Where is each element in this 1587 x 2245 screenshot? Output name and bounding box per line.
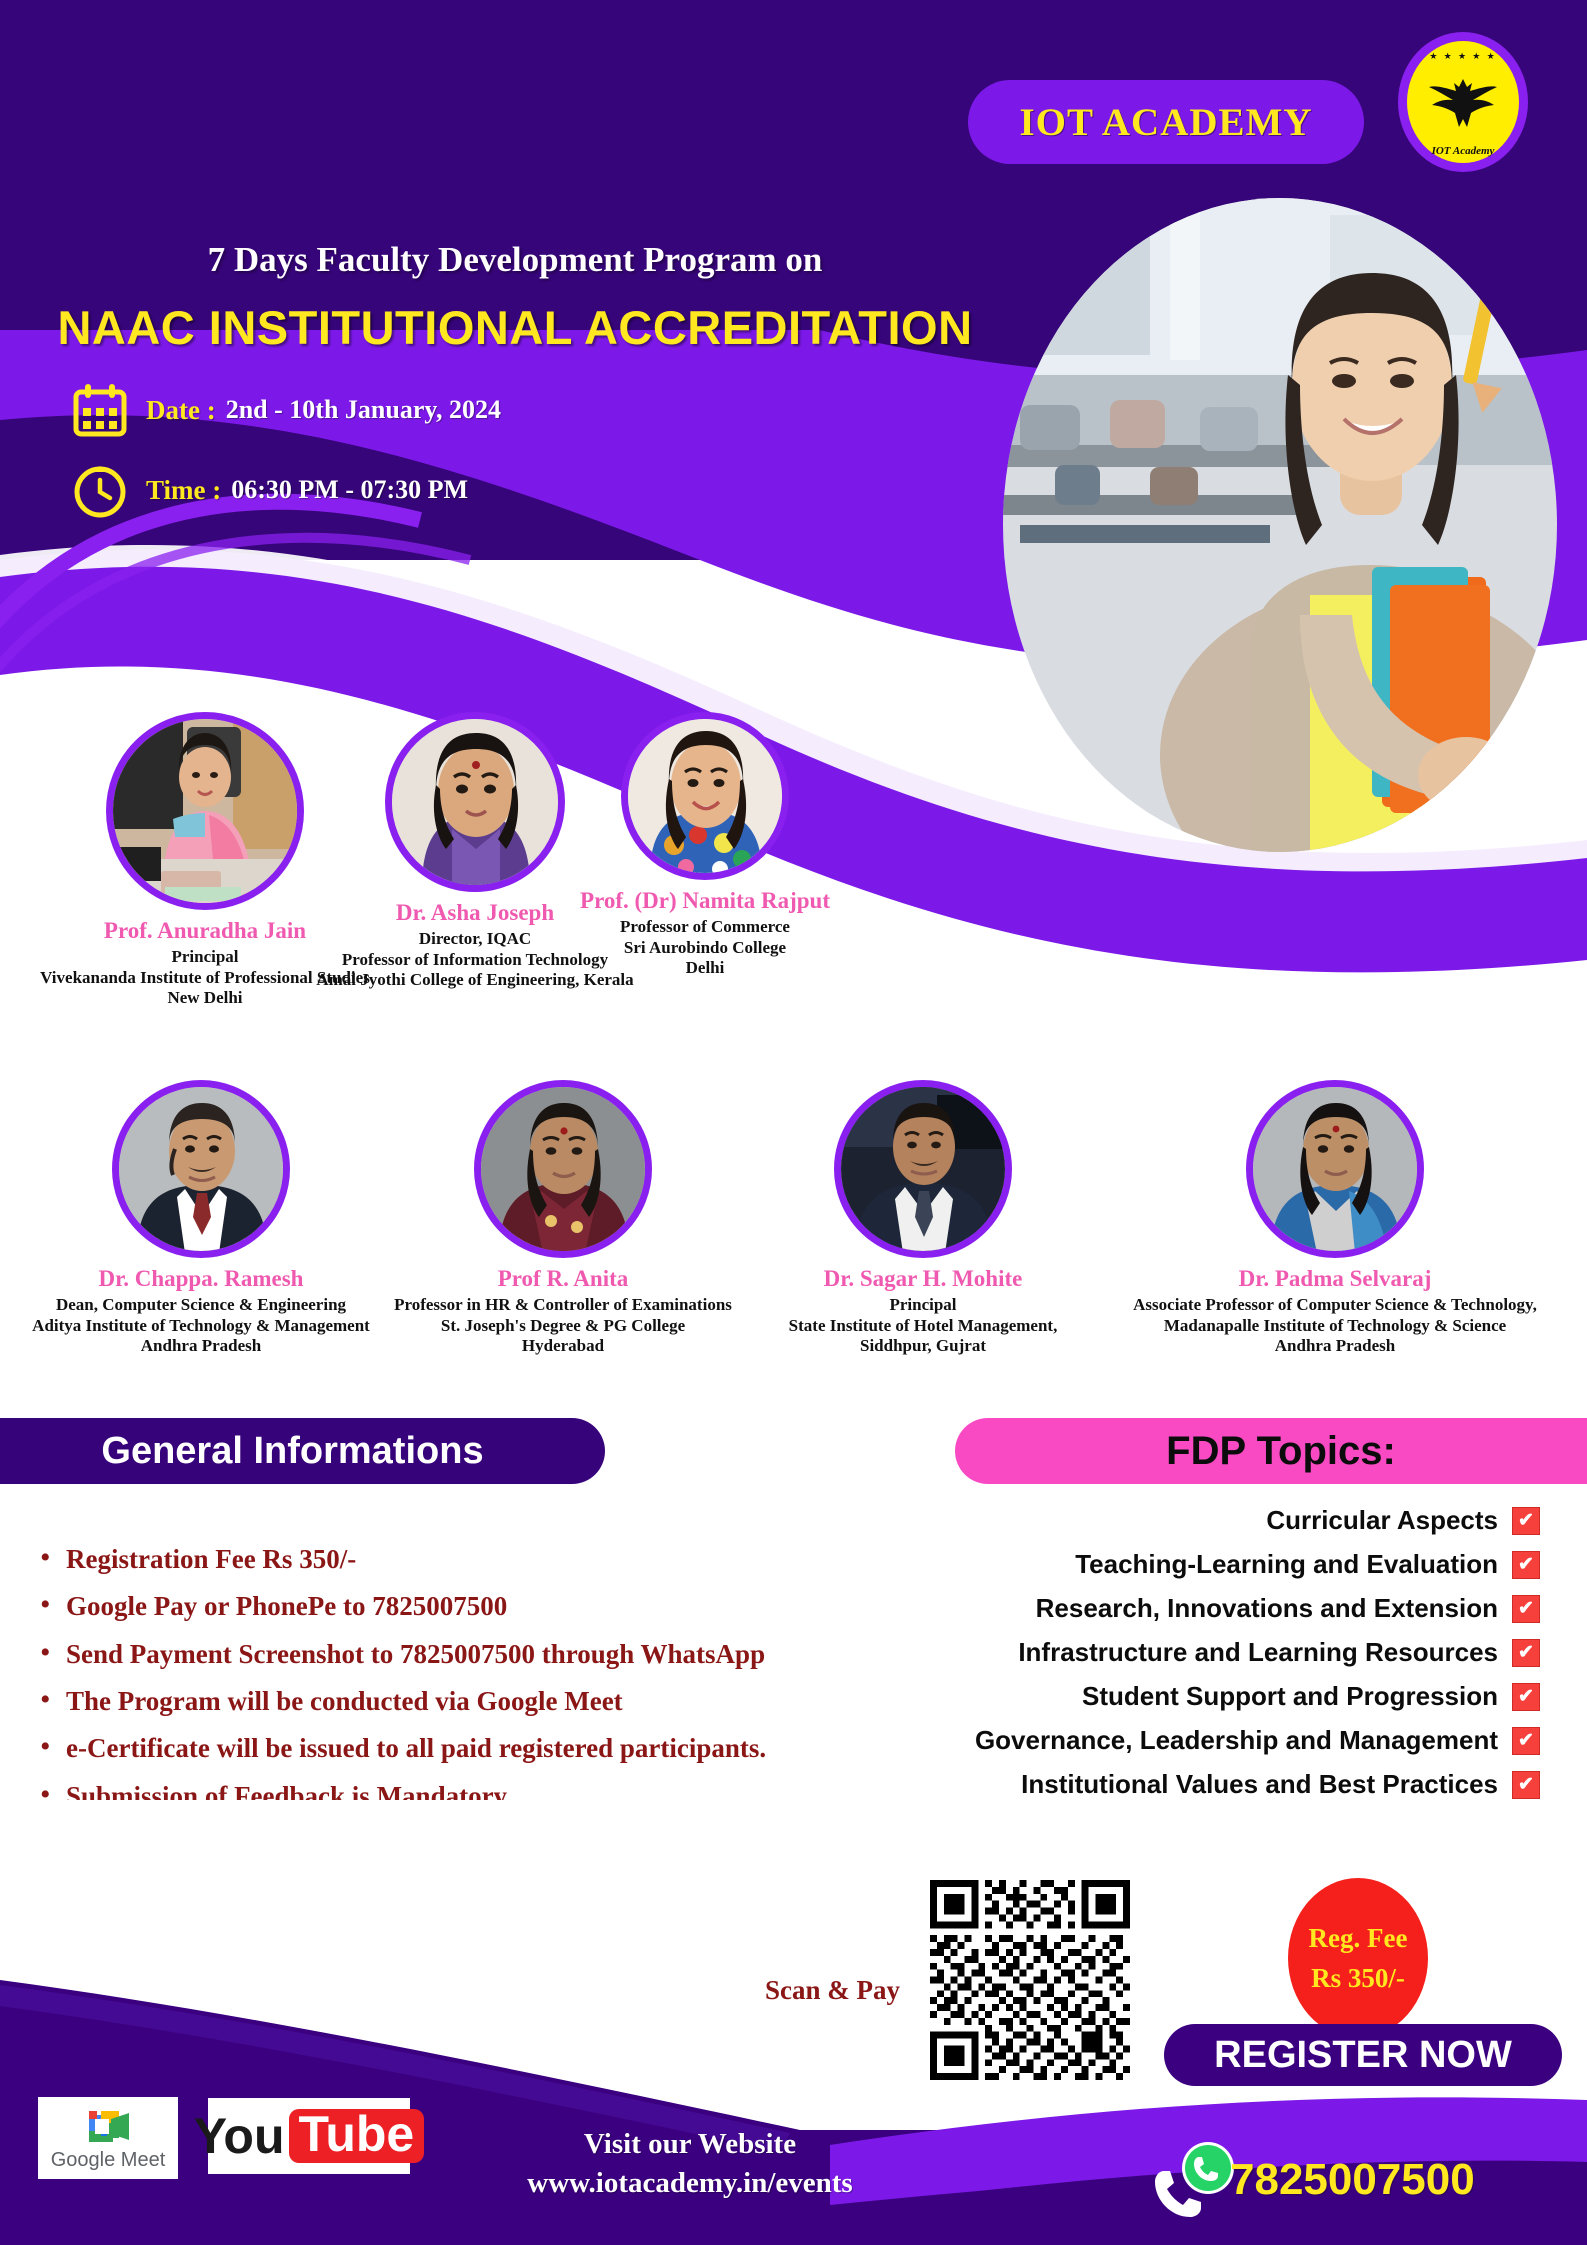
general-info-text: Send Payment Screenshot to 7825007500 th…	[66, 1640, 765, 1668]
bullet-icon: •	[40, 1545, 66, 1571]
checkbox-checked-icon: ✔	[1512, 1595, 1540, 1623]
website-block: Visit our Website www.iotacademy.in/even…	[480, 2125, 900, 2203]
poster-root: IOT ACADEMY ★ ★ ★ ★ ★ IOT Academy	[0, 0, 1587, 2245]
fdp-topic-text: Infrastructure and Learning Resources	[1018, 1637, 1498, 1668]
brand-label: IOT ACADEMY	[1019, 100, 1312, 145]
speaker-card: Dr. Chappa. Ramesh Dean, Computer Scienc…	[18, 1080, 384, 1357]
youtube-logo: You Tube	[208, 2098, 410, 2174]
general-info-text: e-Certificate will be issued to all paid…	[66, 1734, 766, 1762]
list-item: Infrastructure and Learning Resources ✔	[880, 1637, 1540, 1668]
list-item: • The Program will be conducted via Goog…	[40, 1687, 940, 1715]
registration-fee-badge: Reg. Fee Rs 350/-	[1288, 1878, 1428, 2038]
contact-phone-number[interactable]: 7825007500	[1230, 2155, 1475, 2205]
avatar	[628, 719, 784, 875]
program-subtitle: 7 Days Faculty Development Program on	[0, 240, 1030, 280]
speaker-photo	[834, 1080, 1012, 1258]
general-info-text: The Program will be conducted via Google…	[66, 1687, 623, 1715]
general-info-text: Registration Fee Rs 350/-	[66, 1545, 356, 1573]
fee-line-1: Reg. Fee	[1309, 1918, 1408, 1959]
date-label: Date :	[146, 395, 216, 426]
checkbox-checked-icon: ✔	[1512, 1683, 1540, 1711]
fdp-topic-text: Governance, Leadership and Management	[975, 1725, 1498, 1756]
speaker-affiliation: Dean, Computer Science & Engineering Adi…	[18, 1295, 384, 1357]
speaker-photo	[112, 1080, 290, 1258]
list-item: Institutional Values and Best Practices …	[880, 1769, 1540, 1800]
google-meet-label: Google Meet	[51, 2149, 166, 2172]
list-item: • Google Pay or PhonePe to 7825007500	[40, 1592, 940, 1620]
google-meet-icon	[81, 2105, 135, 2147]
list-item: • Send Payment Screenshot to 7825007500 …	[40, 1640, 940, 1668]
speaker-card: Dr. Padma Selvaraj Associate Professor o…	[1095, 1080, 1575, 1357]
brand-pill: IOT ACADEMY	[968, 80, 1364, 164]
website-url[interactable]: www.iotacademy.in/events	[480, 2164, 900, 2203]
speaker-photo	[621, 712, 789, 880]
academy-logo-badge: ★ ★ ★ ★ ★ IOT Academy	[1398, 32, 1528, 172]
youtube-tube-label: Tube	[289, 2109, 425, 2163]
avatar	[113, 719, 299, 905]
checkbox-checked-icon: ✔	[1512, 1771, 1540, 1799]
bullet-icon: •	[40, 1592, 66, 1618]
youtube-you-label: You	[194, 2111, 285, 2161]
speaker-card: Prof. (Dr) Namita Rajput Professor of Co…	[520, 712, 890, 979]
speaker-affiliation: Principal State Institute of Hotel Manag…	[740, 1295, 1106, 1357]
speaker-name: Prof. (Dr) Namita Rajput	[520, 888, 890, 914]
avatar	[1253, 1087, 1419, 1253]
fdp-topics-banner: FDP Topics:	[955, 1418, 1587, 1484]
avatar	[841, 1087, 1007, 1253]
list-item: Student Support and Progression ✔	[880, 1681, 1540, 1712]
fee-line-2: Rs 350/-	[1311, 1958, 1405, 1999]
speaker-affiliation: Professor in HR & Controller of Examinat…	[380, 1295, 746, 1357]
scan-and-pay-label: Scan & Pay	[765, 1975, 900, 2006]
bullet-icon: •	[40, 1640, 66, 1666]
clock-icon	[72, 462, 128, 518]
fdp-topic-text: Student Support and Progression	[1082, 1681, 1498, 1712]
speaker-photo	[474, 1080, 652, 1258]
date-value: 2nd - 10th January, 2024	[226, 395, 501, 425]
logo-name: IOT Academy	[1407, 145, 1519, 157]
list-item: Governance, Leadership and Management ✔	[880, 1725, 1540, 1756]
general-informations-banner: General Informations	[0, 1418, 605, 1484]
checkbox-checked-icon: ✔	[1512, 1551, 1540, 1579]
register-now-button[interactable]: REGISTER NOW	[1164, 2024, 1562, 2086]
fdp-topic-text: Teaching-Learning and Evaluation	[1075, 1549, 1498, 1580]
speaker-affiliation: Professor of Commerce Sri Aurobindo Coll…	[520, 917, 890, 979]
speaker-name: Prof R. Anita	[380, 1266, 746, 1292]
bullet-icon: •	[40, 1734, 66, 1760]
checkbox-checked-icon: ✔	[1512, 1507, 1540, 1535]
speaker-affiliation: Associate Professor of Computer Science …	[1095, 1295, 1575, 1357]
logo-stars: ★ ★ ★ ★ ★	[1407, 51, 1519, 62]
time-label: Time :	[146, 475, 221, 506]
date-row: Date : 2nd - 10th January, 2024	[72, 382, 501, 438]
website-label: Visit our Website	[480, 2125, 900, 2164]
avatar	[481, 1087, 647, 1253]
general-informations-heading: General Informations	[101, 1430, 483, 1473]
calendar-icon	[72, 382, 128, 438]
contact-phone-block: 7825007500	[1160, 2155, 1475, 2205]
speaker-card: Dr. Sagar H. Mohite Principal State Inst…	[740, 1080, 1106, 1357]
time-row: Time : 06:30 PM - 07:30 PM	[72, 462, 468, 518]
hero-teacher-photo	[1000, 195, 1560, 855]
program-title: NAAC INSTITUTIONAL ACCREDITATION	[0, 300, 1030, 355]
speaker-card: Prof R. Anita Professor in HR & Controll…	[380, 1080, 746, 1357]
speaker-photo	[106, 712, 304, 910]
register-now-label: REGISTER NOW	[1214, 2034, 1512, 2077]
speaker-name: Dr. Sagar H. Mohite	[740, 1266, 1106, 1292]
fdp-topics-list: Curricular Aspects ✔ Teaching-Learning a…	[880, 1505, 1540, 1813]
fdp-topic-text: Curricular Aspects	[1266, 1505, 1498, 1536]
list-item: Research, Innovations and Extension ✔	[880, 1593, 1540, 1624]
fdp-topic-text: Research, Innovations and Extension	[1036, 1593, 1498, 1624]
payment-qr-code[interactable]	[930, 1880, 1130, 2080]
fdp-topic-text: Institutional Values and Best Practices	[1021, 1769, 1498, 1800]
google-meet-logo: Google Meet	[38, 2097, 178, 2179]
list-item: Curricular Aspects ✔	[880, 1505, 1540, 1536]
fdp-topics-heading: FDP Topics:	[1166, 1429, 1396, 1474]
list-item: • Registration Fee Rs 350/-	[40, 1545, 940, 1573]
list-item: • e-Certificate will be issued to all pa…	[40, 1734, 940, 1762]
speaker-name: Dr. Padma Selvaraj	[1095, 1266, 1575, 1292]
general-info-text: Google Pay or PhonePe to 7825007500	[66, 1592, 507, 1620]
avatar	[119, 1087, 285, 1253]
list-item: Teaching-Learning and Evaluation ✔	[880, 1549, 1540, 1580]
speaker-name: Dr. Chappa. Ramesh	[18, 1266, 384, 1292]
bullet-icon: •	[40, 1687, 66, 1713]
checkbox-checked-icon: ✔	[1512, 1727, 1540, 1755]
checkbox-checked-icon: ✔	[1512, 1639, 1540, 1667]
eagle-icon	[1428, 73, 1498, 131]
time-value: 06:30 PM - 07:30 PM	[231, 475, 468, 505]
speaker-photo	[1246, 1080, 1424, 1258]
